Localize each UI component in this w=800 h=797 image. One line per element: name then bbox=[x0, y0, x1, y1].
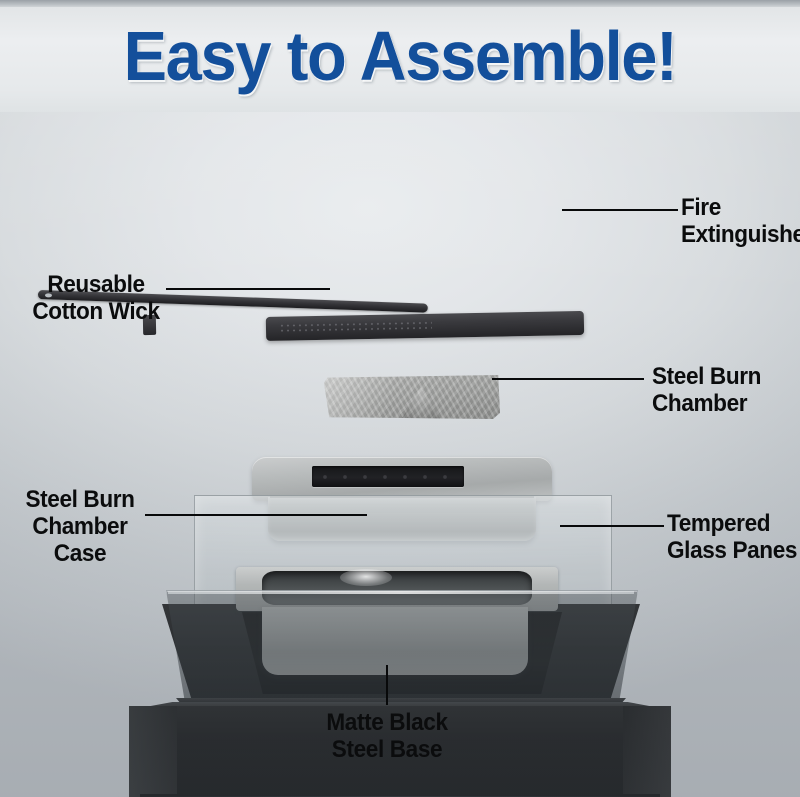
case-specular-highlight bbox=[340, 569, 392, 586]
callout-label-steel-burn-chamber: Steel Burn Chamber bbox=[652, 363, 793, 417]
callout-label-cotton-wick: Reusable Cotton Wick bbox=[26, 271, 165, 325]
leader-line-steel-burn-chamber bbox=[492, 378, 644, 380]
steel-base-right-face bbox=[623, 706, 671, 797]
cotton-wick-part bbox=[324, 375, 500, 419]
leader-line-burn-chamber-case bbox=[145, 514, 367, 516]
burn-chamber-vent-slot bbox=[312, 466, 464, 487]
exploded-diagram: Fire Extinguisher Reusable Cotton Wick S… bbox=[0, 112, 800, 797]
page-title: Easy to Assemble! bbox=[28, 0, 772, 112]
product-infographic: Easy to Assemble! bbox=[0, 0, 800, 797]
vent-holes bbox=[318, 473, 460, 481]
plate-mesh-texture bbox=[280, 321, 432, 334]
callout-label-burn-chamber-case: Steel Burn Chamber Case bbox=[14, 486, 146, 567]
leader-line-fire-extinguisher bbox=[562, 209, 678, 211]
fire-extinguisher-plate bbox=[266, 311, 584, 341]
header-banner: Easy to Assemble! bbox=[0, 0, 800, 112]
callout-label-fire-extinguisher: Fire Extinguisher bbox=[681, 194, 800, 248]
leader-line-steel-base bbox=[386, 665, 388, 705]
steel-base-left-face bbox=[129, 706, 177, 797]
callout-label-tempered-glass-panes: Tempered Glass Panes bbox=[667, 510, 799, 564]
leader-line-cotton-wick bbox=[166, 288, 330, 290]
callout-label-steel-base: Matte Black Steel Base bbox=[283, 709, 492, 763]
glass-pane-top-edge bbox=[168, 591, 634, 594]
tempered-glass-pane-front bbox=[166, 590, 638, 702]
leader-line-tempered-glass-panes bbox=[560, 525, 664, 527]
wick-fold-shading bbox=[401, 387, 440, 419]
